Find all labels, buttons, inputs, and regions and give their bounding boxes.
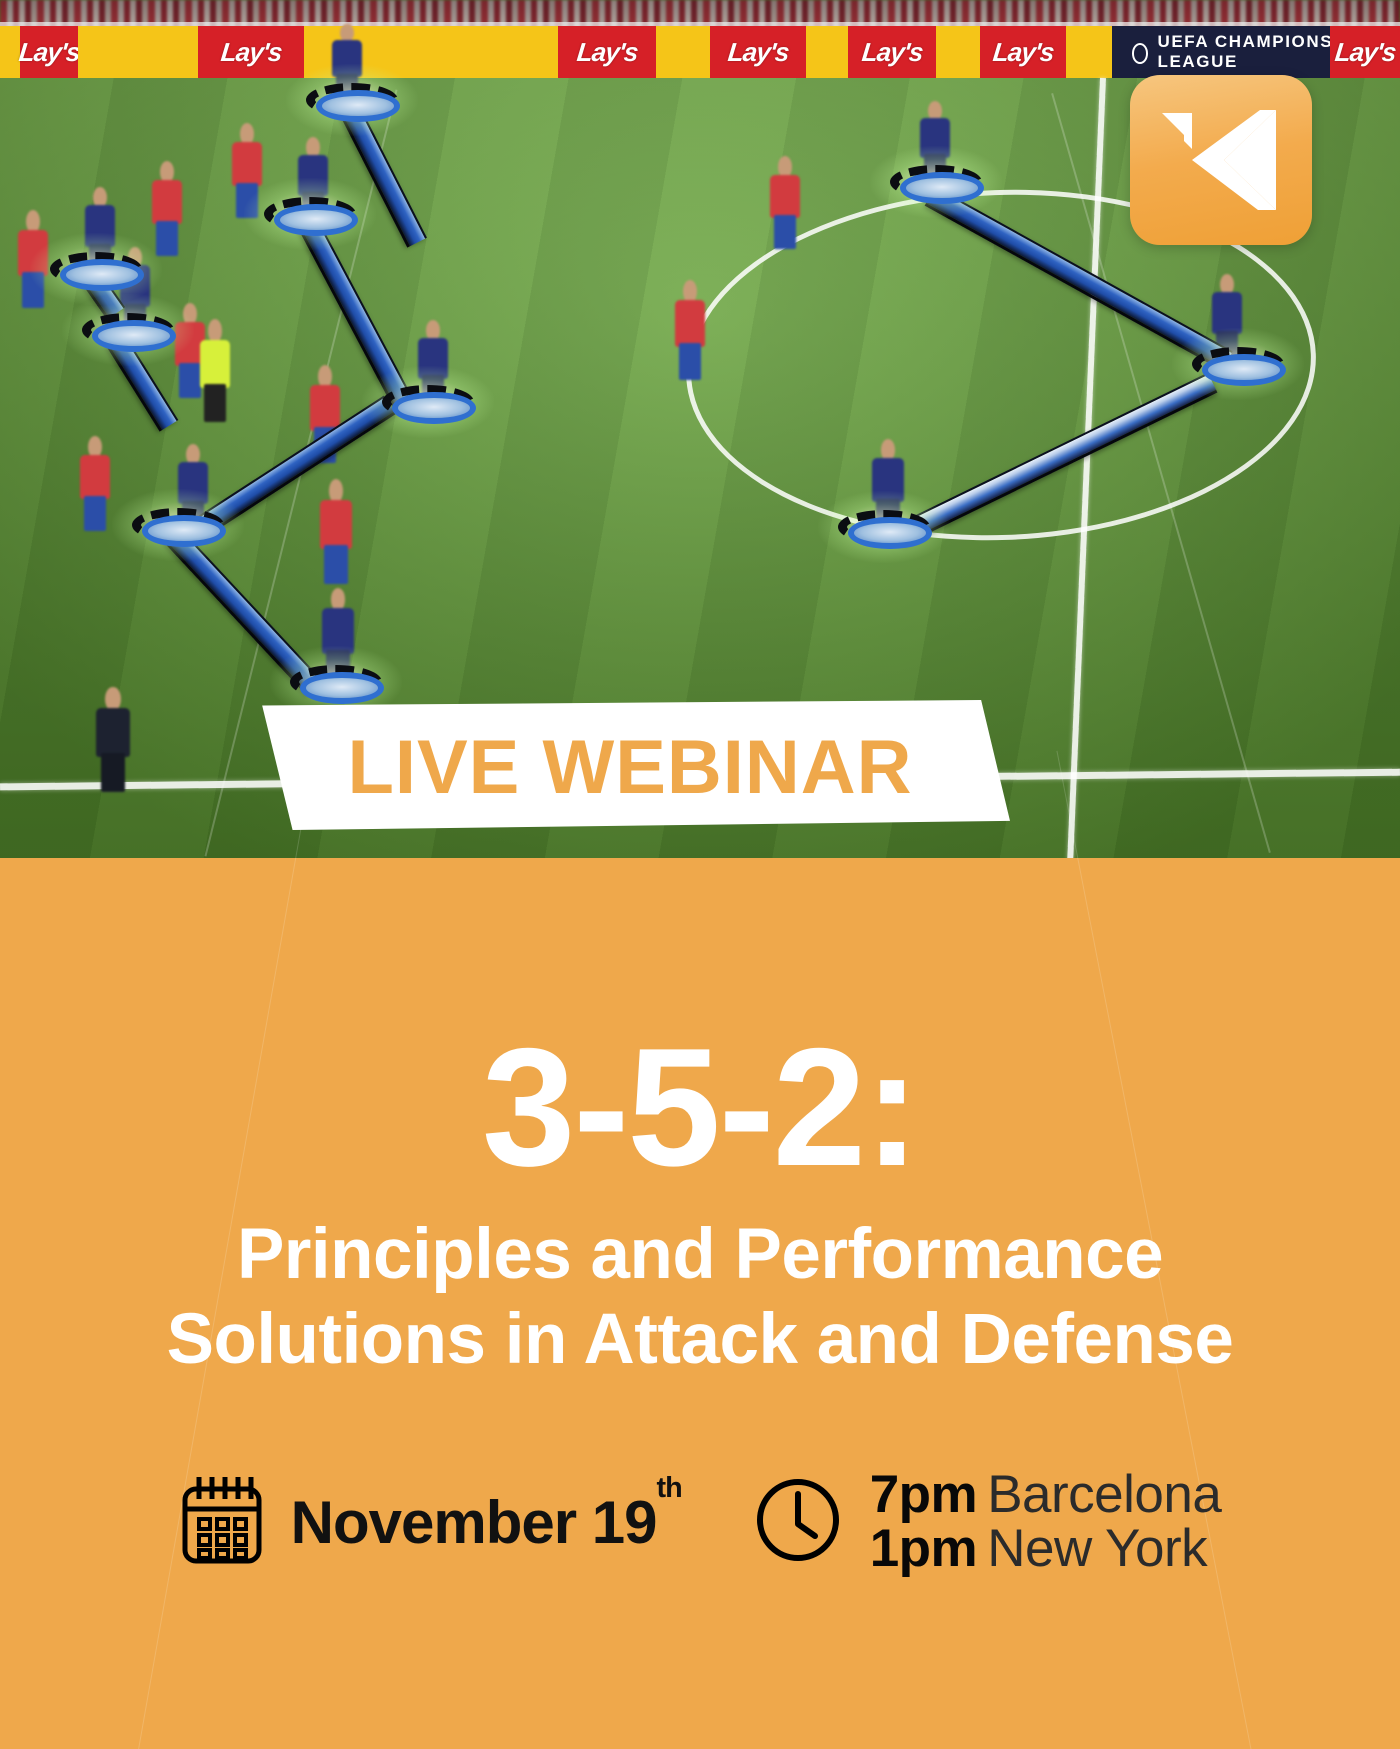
ad-board	[656, 26, 710, 78]
subtitle-line-1: Principles and Performance	[0, 1218, 1400, 1292]
subtitle-line-2: Solutions in Attack and Defense	[0, 1303, 1400, 1377]
player-marker	[382, 385, 474, 419]
lays-logo-text: Lay's	[575, 37, 639, 68]
ad-board	[936, 26, 980, 78]
ad-board-lays: Lay's	[20, 26, 78, 78]
player-marker	[838, 510, 930, 544]
lays-logo-text: Lay's	[860, 37, 924, 68]
lays-logo-text: Lay's	[1333, 37, 1397, 68]
ad-board-lays: Lay's	[558, 26, 656, 78]
event-date-ordinal: th	[657, 1472, 682, 1504]
player-silhouette	[320, 500, 352, 582]
webinar-poster: Lay's Lay's Lay's Lay's Lay's Lay's UEFA…	[0, 0, 1400, 1749]
event-date-text: November 19th	[291, 1488, 682, 1557]
lays-logo-text: Lay's	[991, 37, 1055, 68]
player-marker	[50, 252, 142, 286]
ad-board-lays: Lay's	[980, 26, 1066, 78]
coach-silhouette	[96, 708, 130, 790]
time-hour: 1pm	[870, 1519, 977, 1578]
player-marker	[82, 313, 174, 347]
clock-icon	[752, 1474, 844, 1571]
player-marker	[890, 165, 982, 199]
content-panel: 3-5-2: Principles and Performance Soluti…	[0, 858, 1400, 1749]
ad-board	[806, 26, 848, 78]
lays-logo-text: Lay's	[219, 37, 283, 68]
event-date: November 19th	[179, 1473, 682, 1572]
ad-board-lays: Lay's	[1330, 26, 1400, 78]
uefa-board-text: UEFA CHAMPIONS LEAGUE	[1157, 32, 1350, 72]
event-time: 7pmBarcelona 1pmNew York	[752, 1468, 1222, 1576]
k-logo-icon	[1130, 75, 1312, 245]
ad-board	[1066, 26, 1112, 78]
event-info-row: November 19th 7pmBarcelona 1pmNew Yor	[0, 1468, 1400, 1576]
lays-logo-text: Lay's	[726, 37, 790, 68]
ad-board-lays: Lay's	[848, 26, 936, 78]
ad-board-lays: Lay's	[710, 26, 806, 78]
brand-logo[interactable]	[1130, 75, 1312, 245]
time-city: New York	[987, 1519, 1207, 1578]
ad-board-uefa: UEFA CHAMPIONS LEAGUE	[1112, 26, 1350, 78]
player-marker	[132, 508, 224, 542]
player-marker	[306, 83, 398, 117]
advertising-hoarding: Lay's Lay's Lay's Lay's Lay's Lay's UEFA…	[0, 26, 1400, 78]
time-hour: 7pm	[870, 1465, 977, 1524]
time-city: Barcelona	[987, 1465, 1221, 1524]
event-time-block: 7pmBarcelona 1pmNew York	[870, 1468, 1222, 1576]
event-time-line: 7pmBarcelona	[870, 1468, 1222, 1522]
referee-silhouette	[200, 340, 230, 420]
player-silhouette	[675, 300, 705, 378]
event-time-line: 1pmNew York	[870, 1522, 1222, 1576]
live-webinar-label: LIVE WEBINAR	[347, 724, 912, 811]
ad-board	[0, 26, 20, 78]
ad-board	[78, 26, 198, 78]
uefa-star-icon	[1132, 43, 1148, 64]
player-marker	[264, 197, 356, 231]
player-marker	[1192, 347, 1284, 381]
lays-logo-text: Lay's	[17, 37, 81, 68]
calendar-icon	[179, 1473, 265, 1572]
event-date-value: November 19	[291, 1489, 657, 1556]
live-webinar-banner: LIVE WEBINAR	[250, 700, 1010, 830]
player-silhouette	[770, 175, 800, 247]
player-silhouette	[80, 455, 110, 529]
page-title: 3-5-2:	[0, 1023, 1400, 1191]
player-marker	[290, 665, 382, 699]
